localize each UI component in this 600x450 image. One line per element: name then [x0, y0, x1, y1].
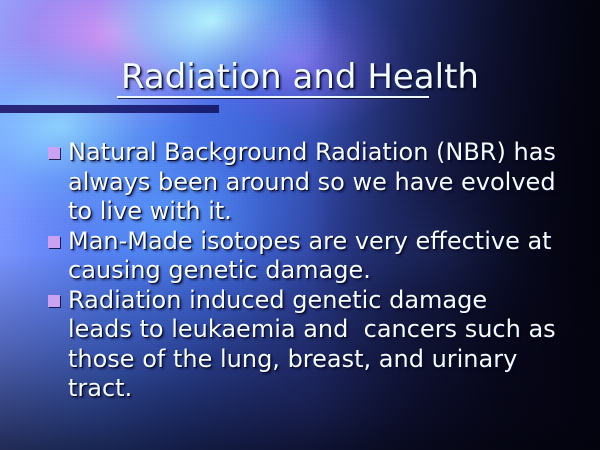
presentation-slide: Radiation and Health Natural Background …: [0, 0, 600, 450]
square-bullet-icon: [48, 147, 60, 159]
bullet-item-1: Natural Background Radiation (NBR) has a…: [0, 138, 600, 227]
square-bullet-icon: [48, 236, 60, 248]
slide-content: Radiation and Health Natural Background …: [0, 0, 600, 450]
bullet-item-2-text: Man-Made isotopes are very effective at …: [68, 227, 559, 285]
bullet-item-2: Man-Made isotopes are very effective at …: [0, 227, 600, 286]
bullet-item-3-text: Radiation induced genetic damage leads t…: [68, 286, 563, 403]
slide-title: Radiation and Health: [0, 58, 600, 96]
bullet-list: Natural Background Radiation (NBR) has a…: [0, 138, 600, 404]
bullet-item-3: Radiation induced genetic damage leads t…: [0, 286, 600, 404]
bullet-item-1-text: Natural Background Radiation (NBR) has a…: [68, 138, 564, 225]
title-underline: [117, 96, 429, 98]
title-accent-bar: [0, 105, 219, 113]
square-bullet-icon: [48, 295, 60, 307]
